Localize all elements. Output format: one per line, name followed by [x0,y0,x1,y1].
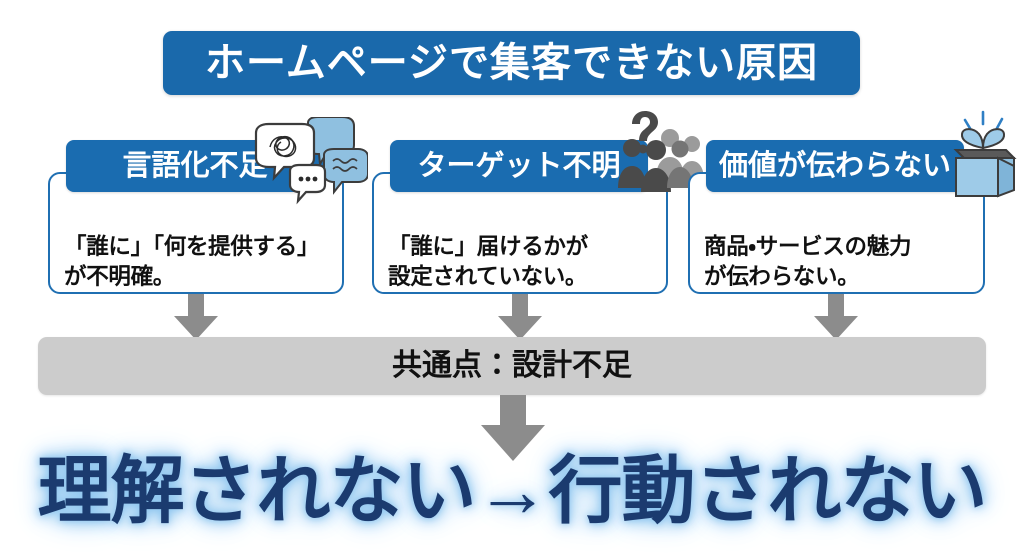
cause-card-2-body: 「誰に」届けるかが 設定されていない。 [388,232,658,291]
title-banner: ホームページで集客できない原因 [163,31,860,95]
cause-card-3-header: 価値が伝わらない [706,140,964,192]
cause-card-3-body: 商品・サービスの魅力 が伝わらない。 [704,232,975,291]
cause-card-3-title: 価値が伝わらない [719,152,951,181]
common-point-label: 共通点：設計不足 [392,351,632,381]
cause-card-1-body: 「誰に」「何を提供する」 が不明確。 [64,232,334,291]
common-point-bar: 共通点：設計不足 [38,337,986,395]
cause-card-2-title: ターゲット不明 [417,152,620,181]
infographic-canvas: ホームページで集客できない原因 「誰に」「何を提供する」 が不明確。 言語化不足 [0,0,1024,558]
conclusion-text: 理解されない→行動されない [38,452,987,530]
cause-card-2-header: ターゲット不明 [390,140,648,192]
cause-card-1-title: 言語化不足 [122,152,267,181]
conclusion-wrapper: 理解されない→行動されない [0,452,1024,530]
cause-card-1-header: 言語化不足 [66,140,324,192]
page-title: ホームページで集客できない原因 [205,43,818,83]
